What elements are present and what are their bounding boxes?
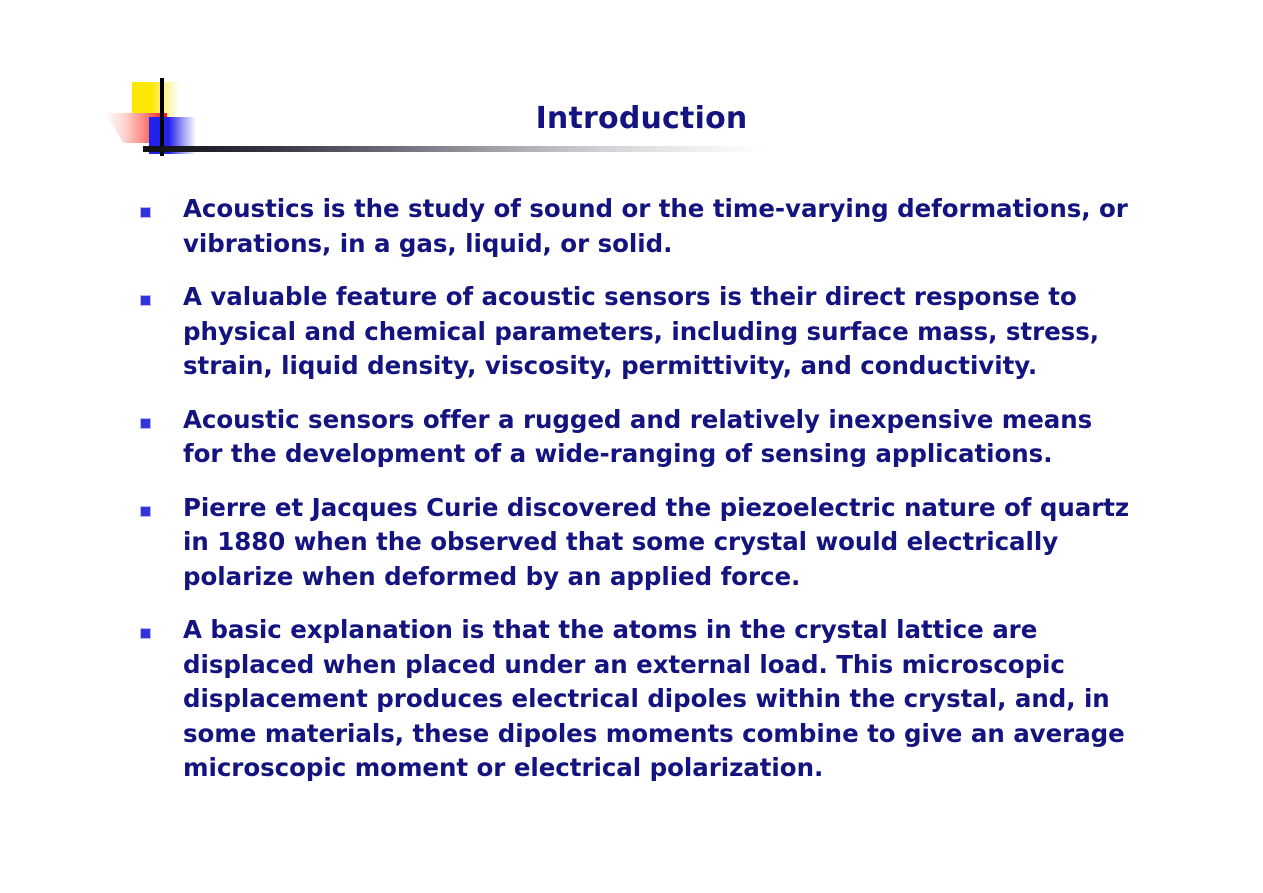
square-bullet-icon bbox=[140, 295, 151, 306]
square-bullet-icon bbox=[140, 506, 151, 517]
slide-header: Introduction bbox=[0, 0, 1263, 165]
page-title: Introduction bbox=[0, 104, 1263, 134]
list-item-text: Acoustic sensors offer a rugged and rela… bbox=[183, 403, 1140, 472]
square-bullet-icon bbox=[140, 207, 151, 218]
presentation-slide: Introduction Acoustics is the study of s… bbox=[0, 0, 1263, 893]
square-bullet-icon bbox=[140, 628, 151, 639]
list-item-text: A basic explanation is that the atoms in… bbox=[183, 613, 1140, 786]
list-item: Acoustic sensors offer a rugged and rela… bbox=[140, 403, 1140, 472]
list-item-text: A valuable feature of acoustic sensors i… bbox=[183, 280, 1140, 384]
list-item-text: Pierre et Jacques Curie discovered the p… bbox=[183, 491, 1140, 595]
list-item: A valuable feature of acoustic sensors i… bbox=[140, 280, 1140, 384]
list-item-text: Acoustics is the study of sound or the t… bbox=[183, 192, 1140, 261]
square-bullet-icon bbox=[140, 418, 151, 429]
bullet-list: Acoustics is the study of sound or the t… bbox=[140, 192, 1140, 805]
list-item: Acoustics is the study of sound or the t… bbox=[140, 192, 1140, 261]
list-item: A basic explanation is that the atoms in… bbox=[140, 613, 1140, 786]
title-underline-rule bbox=[143, 146, 765, 152]
list-item: Pierre et Jacques Curie discovered the p… bbox=[140, 491, 1140, 595]
